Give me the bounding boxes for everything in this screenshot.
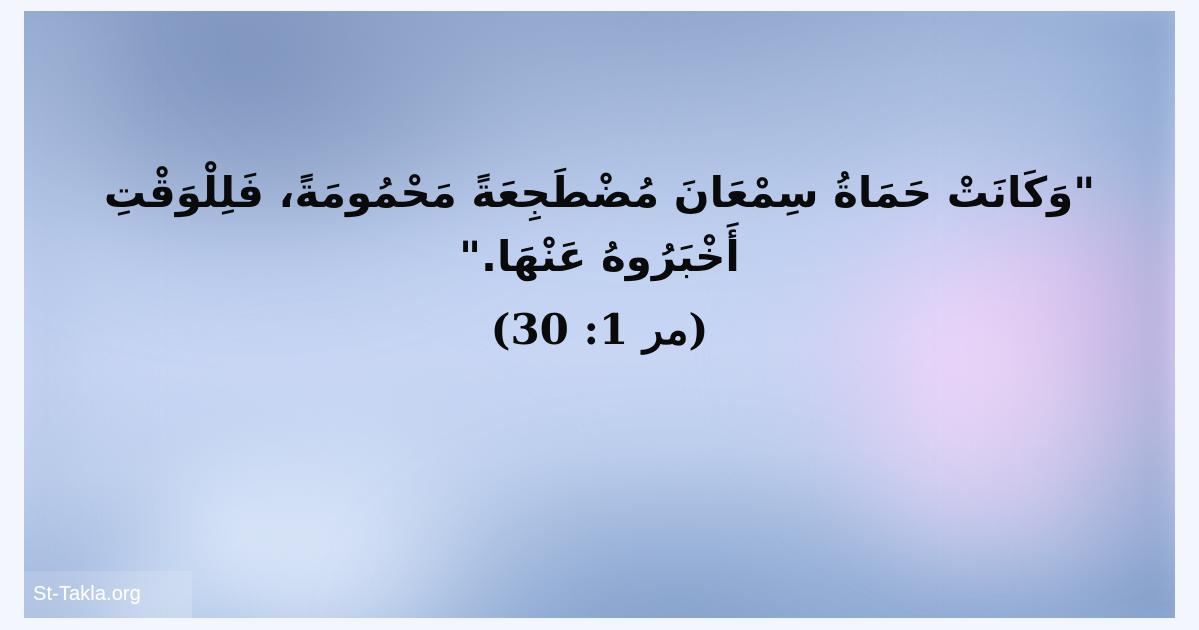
verse-block: "وَكَانَتْ حَمَاةُ سِمْعَانَ مُضْطَجِعَة… bbox=[24, 11, 1175, 357]
watermark-text: St-Takla.org bbox=[24, 583, 141, 606]
verse-reference: (مر 1: 30) bbox=[70, 303, 1130, 358]
watermark-band: St-Takla.org bbox=[24, 571, 192, 618]
verse-text: "وَكَانَتْ حَمَاةُ سِمْعَانَ مُضْطَجِعَة… bbox=[70, 161, 1130, 289]
verse-image-canvas: "وَكَانَتْ حَمَاةُ سِمْعَانَ مُضْطَجِعَة… bbox=[0, 0, 1199, 630]
